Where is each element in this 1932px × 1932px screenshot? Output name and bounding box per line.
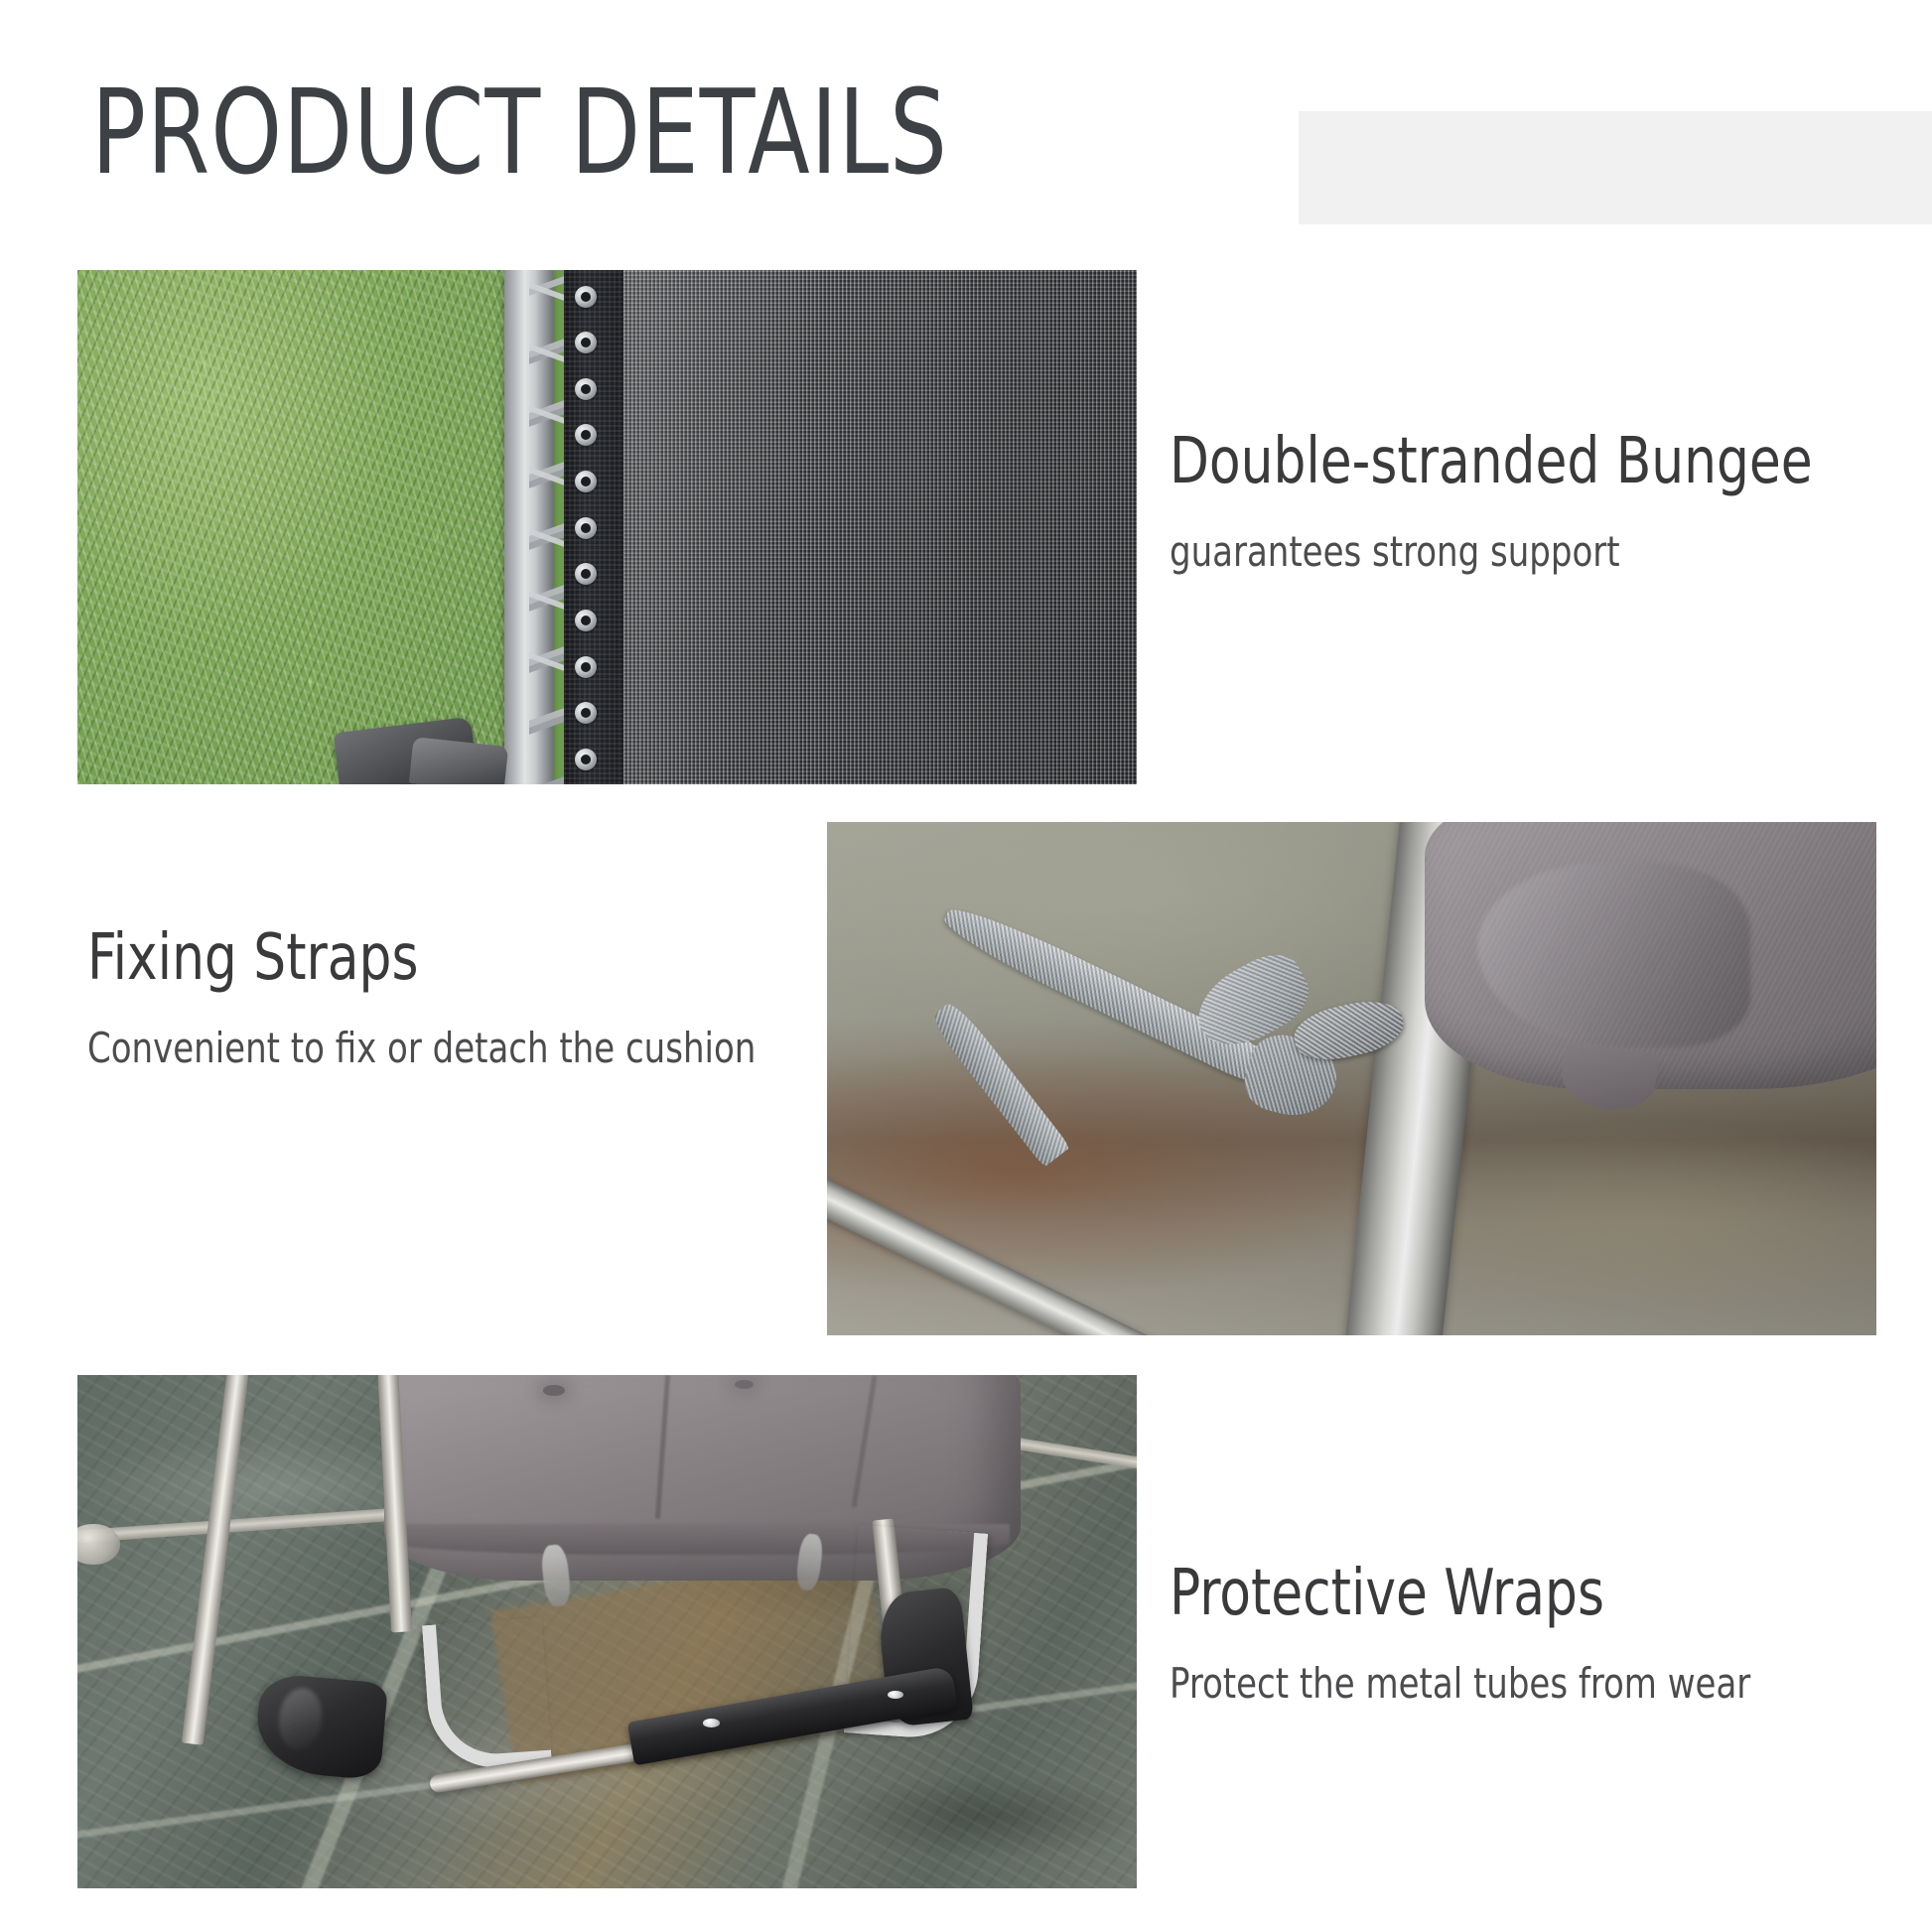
feature-heading: Fixing Straps xyxy=(87,925,756,992)
header-accent-band xyxy=(1299,111,1932,224)
feature-subtext: Convenient to fix or detach the cushion xyxy=(87,1026,756,1071)
grommet xyxy=(575,517,597,539)
wrap-rivet xyxy=(703,1719,720,1726)
grommet xyxy=(575,656,597,678)
feature-subtext: guarantees strong support xyxy=(1170,529,1813,575)
feature-heading: Double-stranded Bungee xyxy=(1170,429,1813,495)
grommet xyxy=(575,286,597,308)
photo-protective-wraps xyxy=(77,1375,1137,1888)
wrap-rivet xyxy=(888,1691,903,1699)
photo-fixing-straps xyxy=(827,822,1876,1335)
frame-clip xyxy=(409,738,508,784)
mesh-sheen-overlay xyxy=(623,270,1137,784)
cushion-tuft-button xyxy=(543,1385,564,1395)
feature-text-double-stranded-bungee: Double-stranded Bungee guarantees strong… xyxy=(1170,429,1884,575)
feature-heading: Protective Wraps xyxy=(1170,1561,1750,1627)
photo-double-stranded-bungee xyxy=(77,270,1137,784)
feature-text-fixing-straps: Fixing Straps Convenient to fix or detac… xyxy=(87,925,830,1071)
feature-subtext: Protect the metal tubes from wear xyxy=(1170,1661,1750,1707)
page-title: PRODUCT DETAILS xyxy=(91,73,948,191)
feature-text-protective-wraps: Protective Wraps Protect the metal tubes… xyxy=(1170,1561,1815,1707)
